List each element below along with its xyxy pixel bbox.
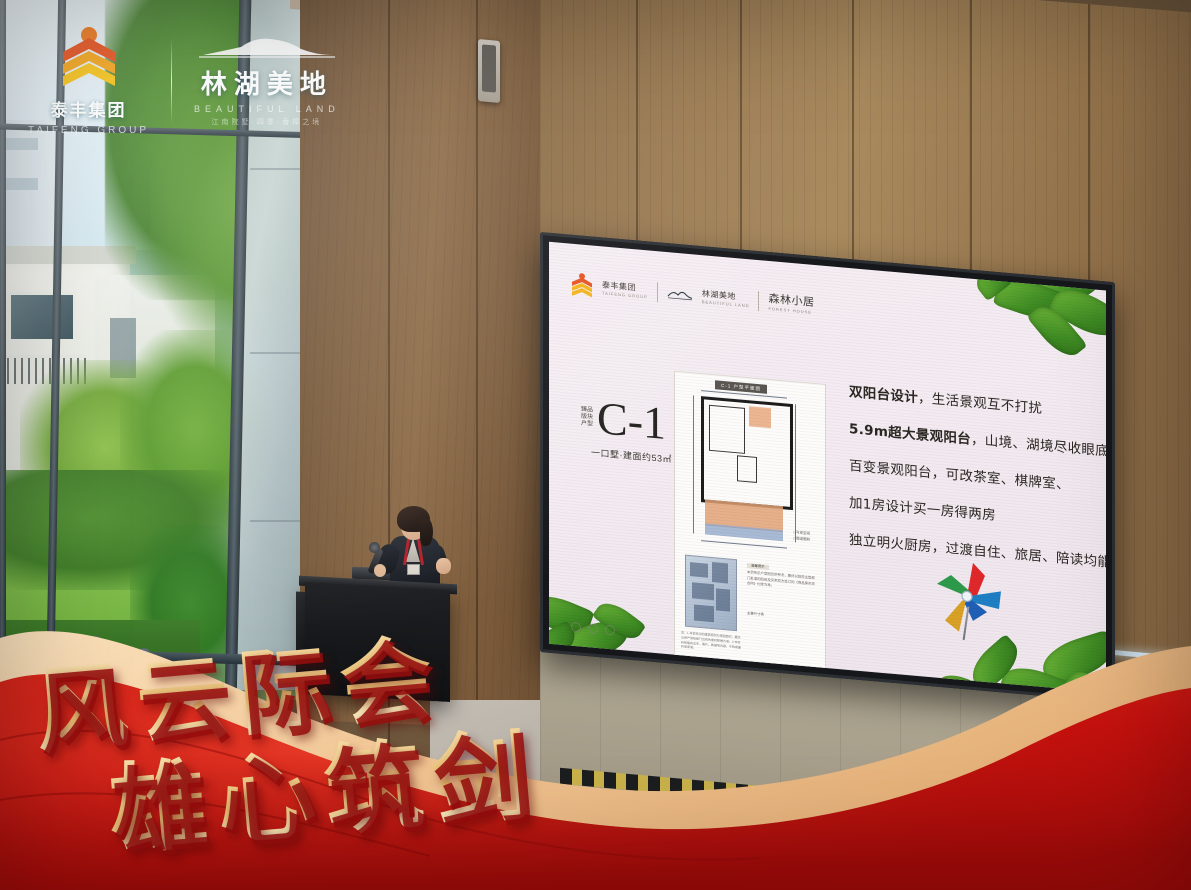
taifeng-stacked-logo [61, 26, 117, 92]
presenter-left-hand [374, 564, 386, 577]
bullet-item: 百变景观阳台，可改茶室、棋牌室、 [849, 454, 1106, 497]
floorplan-location-thumb [685, 555, 737, 632]
brand-taifeng-name-en: TAIFENG GROUP [28, 125, 149, 136]
slide-logo-linhu: 林湖美地 BEAUTIFUL LAND [702, 289, 750, 308]
presenter-hair [420, 518, 433, 546]
floorplan-room [749, 406, 771, 428]
brand-linhu-name-cn: 林湖美地 [201, 64, 333, 101]
presenter-right-hand [436, 558, 451, 574]
window-mullion [0, 0, 6, 700]
villa-window [8, 292, 76, 342]
floorplan-room [709, 405, 745, 454]
pinwheel-icon [929, 555, 1007, 640]
bullet-item: 加1房设计买一房得两房 [849, 491, 1106, 534]
brand-taifeng-name-cn: 泰丰集团 [51, 96, 127, 121]
floorplan-figure: C-1 户型平面图 □ 可变空间 □ 赠送面积 [674, 371, 826, 676]
unit-prefix: 臻品 版块 户型 [581, 407, 593, 437]
slide-logo-row: 泰丰集团 TAIFENG GROUP 林湖美地 BEAUTIFUL LAND 森… [571, 272, 814, 319]
bullet-item: 5.9m超大景观阳台，山境、湖境尽收眼底 [849, 417, 1106, 460]
unit-code-block: 臻品 版块 户型 C-1 [581, 397, 666, 444]
brand-linhu: 林湖美地 BEAUTIFUL LAND 江南院墅·四季·香樟之境 [194, 35, 340, 127]
mountain-lake-logo [667, 287, 693, 301]
slide-logo-taifeng: 泰丰集团 TAIFENG GROUP [602, 280, 648, 299]
floorplan-legend: □ 可变空间 □ 赠送面积 [793, 530, 810, 543]
banner-title: 风云际会 雄心筑剑 [0, 620, 640, 890]
bullet-item: 双阳台设计，生活景观互不打扰 [849, 380, 1106, 423]
floorplan-note: 温馨提示 本页所示户型图仅供参考，最终以政府主管部门批准的图纸及买卖双方签订的《… [747, 563, 817, 592]
floorplan-room [737, 455, 757, 483]
logo-divider [758, 291, 759, 311]
brand-linhu-tagline: 江南院墅·四季·香樟之境 [212, 117, 323, 127]
photo-canvas: 泰丰集团 TAIFENG GROUP 林湖美地 BEAUTIFUL LAND 森… [0, 0, 1191, 890]
mountain-lake-logo [197, 35, 337, 61]
brand-linhu-name-en: BEAUTIFUL LAND [194, 104, 340, 114]
brand-taifeng: 泰丰集团 TAIFENG GROUP [28, 26, 149, 136]
presenter-badge [407, 564, 420, 575]
unit-code: C-1 [597, 398, 666, 443]
floorplan-dimension-table: 主要尺寸表 [747, 611, 764, 618]
microphone-icon [369, 542, 380, 553]
slide-logo-senlin: 森林小居 FOREST HOUSE [768, 293, 814, 316]
brand-overlay: 泰丰集团 TAIFENG GROUP 林湖美地 BEAUTIFUL LAND 江… [28, 26, 340, 136]
vertical-divider [171, 38, 172, 124]
taifeng-stacked-logo [571, 272, 593, 300]
floorplan-footnote: 注：1.本资料中的建筑面积为预测面积，最终以房产测绘部门出具的面积数据为准。2.… [681, 630, 741, 654]
logo-divider [657, 282, 658, 302]
wall-speaker-icon [478, 39, 500, 103]
slide-bullet-list: 双阳台设计，生活景观互不打扰 5.9m超大景观阳台，山境、湖境尽收眼底 百变景观… [849, 380, 1106, 588]
